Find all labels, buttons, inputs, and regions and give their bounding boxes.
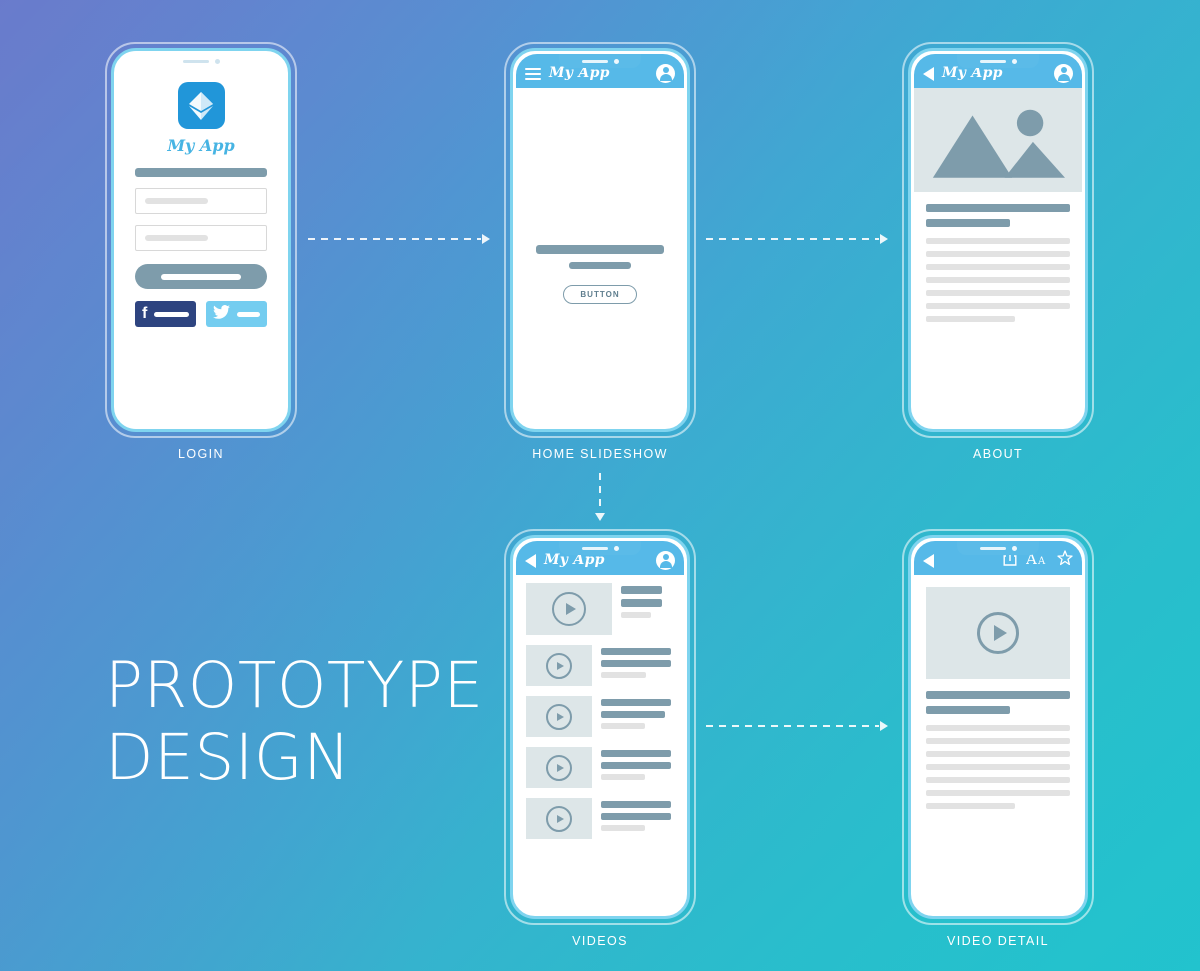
video-title-line-2 xyxy=(601,762,671,769)
video-title-line-1 xyxy=(601,699,671,706)
about-body-line-3 xyxy=(926,264,1070,270)
speaker-icon xyxy=(582,547,608,550)
play-icon[interactable] xyxy=(546,704,572,730)
phone-inner-frame: A A xyxy=(908,535,1088,919)
detail-body-line-6 xyxy=(926,790,1070,796)
about-body-line-1 xyxy=(926,238,1070,244)
arrow-home-to-about xyxy=(706,233,888,245)
video-meta-line xyxy=(601,825,645,831)
play-icon[interactable] xyxy=(977,612,1019,654)
screen-about[interactable]: My App xyxy=(902,42,1094,438)
arrow-dash xyxy=(599,473,601,512)
video-meta xyxy=(601,645,674,683)
about-body-line-6 xyxy=(926,303,1070,309)
slide-subtitle-placeholder xyxy=(569,262,630,269)
arrow-head-icon xyxy=(880,721,888,731)
list-item[interactable] xyxy=(526,696,674,737)
back-arrow-icon[interactable] xyxy=(923,554,934,568)
login-submit-label xyxy=(161,274,240,280)
detail-title-line-2 xyxy=(926,706,1010,714)
detail-body-line-5 xyxy=(926,777,1070,783)
video-meta-line xyxy=(601,723,645,729)
diamond-logo-svg xyxy=(188,91,214,121)
detail-body-line-4 xyxy=(926,764,1070,770)
video-title-line-1 xyxy=(601,750,671,757)
detail-title-line-1 xyxy=(926,691,1070,699)
screen-video-detail[interactable]: A A xyxy=(902,529,1094,925)
screen-home-slideshow[interactable]: My App BUTTON xyxy=(504,42,696,438)
camera-icon xyxy=(614,59,619,64)
video-thumbnail[interactable] xyxy=(526,798,592,839)
facebook-login-label xyxy=(154,312,189,317)
play-icon[interactable] xyxy=(546,806,572,832)
username-placeholder xyxy=(145,198,208,204)
videos-screen-surface: My App xyxy=(516,541,684,913)
about-title-line-2 xyxy=(926,219,1010,227)
arrow-dash xyxy=(308,238,481,240)
video-player[interactable] xyxy=(926,587,1070,679)
video-title-line-2 xyxy=(601,813,671,820)
detail-body-line-3 xyxy=(926,751,1070,757)
arrow-dash xyxy=(706,238,879,240)
login-heading-placeholder xyxy=(135,168,267,177)
play-icon[interactable] xyxy=(552,592,586,626)
phone-inner-frame: My App xyxy=(908,48,1088,432)
social-login-row: f xyxy=(135,301,267,327)
back-arrow-icon[interactable] xyxy=(525,554,536,568)
list-item[interactable] xyxy=(526,583,674,635)
login-form: My App f xyxy=(117,54,285,327)
detail-body-line-1 xyxy=(926,725,1070,731)
video-meta-line xyxy=(601,774,645,780)
twitter-login-label xyxy=(237,312,260,317)
phone-notch xyxy=(160,54,242,68)
hamburger-menu-icon[interactable] xyxy=(525,65,541,83)
user-avatar-icon[interactable] xyxy=(656,64,675,83)
password-placeholder xyxy=(145,235,208,241)
arrow-home-to-videos xyxy=(594,473,606,521)
caption-about: ABOUT xyxy=(868,447,1128,461)
video-meta xyxy=(621,583,674,623)
speaker-icon xyxy=(980,547,1006,550)
video-thumbnail[interactable] xyxy=(526,696,592,737)
user-avatar-icon[interactable] xyxy=(656,551,675,570)
prototype-flow-canvas: PROTOTYPE DESIGN xyxy=(0,0,1200,971)
video-detail-screen-surface: A A xyxy=(914,541,1082,913)
back-arrow-icon[interactable] xyxy=(923,67,934,81)
video-meta-line xyxy=(601,672,646,678)
about-body-line-2 xyxy=(926,251,1070,257)
video-title-line-2 xyxy=(601,660,671,667)
facebook-icon: f xyxy=(142,306,147,322)
video-meta-line xyxy=(621,612,651,618)
facebook-login-button[interactable]: f xyxy=(135,301,196,327)
caption-video-detail: VIDEO DETAIL xyxy=(868,934,1128,948)
phone-notch xyxy=(957,54,1039,68)
caption-home-slideshow: HOME SLIDESHOW xyxy=(470,447,730,461)
svg-text:A: A xyxy=(1037,556,1046,566)
arrow-login-to-home xyxy=(308,233,490,245)
home-screen-surface: My App BUTTON xyxy=(516,54,684,426)
list-item[interactable] xyxy=(526,798,674,839)
video-meta xyxy=(601,696,674,734)
username-field[interactable] xyxy=(135,188,267,214)
caption-login: LOGIN xyxy=(71,447,331,461)
arrow-head-icon xyxy=(482,234,490,244)
video-thumbnail[interactable] xyxy=(526,583,612,635)
play-icon[interactable] xyxy=(546,653,572,679)
list-item[interactable] xyxy=(526,747,674,788)
page-title-line-1: PROTOTYPE xyxy=(105,650,484,722)
slide-cta-button[interactable]: BUTTON xyxy=(563,285,636,304)
arrow-head-icon xyxy=(880,234,888,244)
video-title-line-1 xyxy=(601,801,671,808)
speaker-icon xyxy=(183,60,209,63)
login-submit-button[interactable] xyxy=(135,264,267,289)
about-body-line-7 xyxy=(926,316,1015,322)
detail-body-line-2 xyxy=(926,738,1070,744)
slide-headline-placeholder xyxy=(536,245,664,254)
speaker-icon xyxy=(582,60,608,63)
slideshow-content: BUTTON xyxy=(516,88,684,426)
app-name-label: My App xyxy=(135,136,267,155)
camera-icon xyxy=(215,59,220,64)
arrow-dash xyxy=(706,725,879,727)
arrow-videos-to-detail xyxy=(706,720,888,732)
list-item[interactable] xyxy=(526,645,674,686)
twitter-login-button[interactable] xyxy=(206,301,267,327)
video-meta xyxy=(601,747,674,785)
login-screen-surface: My App f xyxy=(117,54,285,426)
screen-videos[interactable]: My App xyxy=(504,529,696,925)
favorite-star-icon[interactable] xyxy=(1057,550,1073,571)
screen-login[interactable]: My App f xyxy=(105,42,297,438)
camera-icon xyxy=(614,546,619,551)
camera-icon xyxy=(1012,546,1017,551)
video-detail-text-block xyxy=(914,679,1082,809)
phone-inner-frame: My App BUTTON xyxy=(510,48,690,432)
phone-notch xyxy=(559,54,641,68)
video-title-line-2 xyxy=(601,711,665,718)
page-title-line-2: DESIGN xyxy=(105,722,484,794)
about-body-line-4 xyxy=(926,277,1070,283)
phone-inner-frame: My App xyxy=(510,535,690,919)
video-list xyxy=(516,575,684,839)
arrow-head-icon xyxy=(595,513,605,521)
twitter-icon xyxy=(213,305,230,324)
play-icon[interactable] xyxy=(546,755,572,781)
phone-notch xyxy=(957,541,1039,555)
about-screen-surface: My App xyxy=(914,54,1082,426)
video-meta xyxy=(601,798,674,836)
caption-videos: VIDEOS xyxy=(470,934,730,948)
page-title: PROTOTYPE DESIGN xyxy=(105,650,484,794)
about-body-line-5 xyxy=(926,290,1070,296)
about-text-block xyxy=(914,192,1082,322)
phone-inner-frame: My App f xyxy=(111,48,291,432)
user-avatar-icon[interactable] xyxy=(1054,64,1073,83)
video-title-line-1 xyxy=(621,586,662,594)
video-title-line-2 xyxy=(621,599,662,607)
detail-body-line-7 xyxy=(926,803,1015,809)
diamond-logo-icon xyxy=(178,82,225,129)
speaker-icon xyxy=(980,60,1006,63)
password-field[interactable] xyxy=(135,225,267,251)
video-thumbnail[interactable] xyxy=(526,747,592,788)
video-title-line-1 xyxy=(601,648,671,655)
image-placeholder-icon xyxy=(914,88,1082,192)
phone-notch xyxy=(559,541,641,555)
camera-icon xyxy=(1012,59,1017,64)
video-thumbnail[interactable] xyxy=(526,645,592,686)
about-title-line-1 xyxy=(926,204,1070,212)
